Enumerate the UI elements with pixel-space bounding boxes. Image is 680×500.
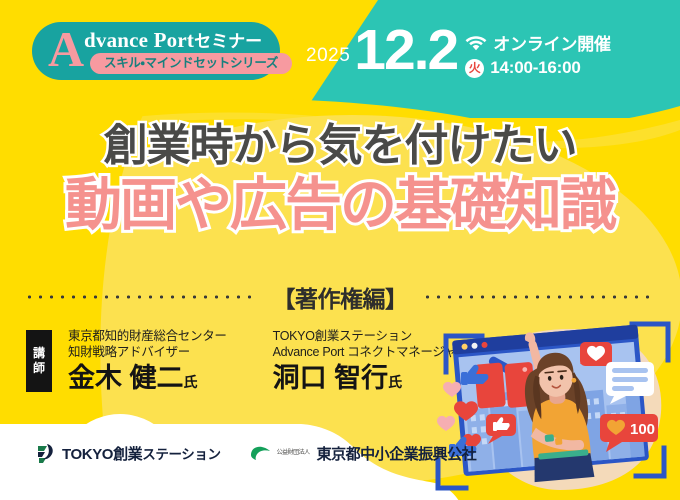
event-year: 2025 <box>306 46 350 81</box>
tokyo-smes-support-center-logo-text: 東京都中小企業振興公社 <box>317 443 477 464</box>
dotted-rule-right <box>422 295 657 299</box>
headline-line-1: 創業時から気を付けたい <box>0 118 680 174</box>
series-badge: A dvance Portセミナー スキル・マインドセットシリーズ <box>32 22 280 80</box>
weekday-badge: 火 <box>465 59 484 78</box>
speaker-org-line-2: 知財戦略アドバイザー <box>68 344 227 360</box>
footer-logos: TOKYO創業ステーション 公益財団法人 東京都中小企業振興公社 <box>34 442 476 464</box>
live-streaming-selfie-illustration: 100 <box>430 310 680 500</box>
speaker-entry: 東京都知的財産総合センター 知財戦略アドバイザー 金木 健二氏 <box>68 328 227 398</box>
tokyo-smes-support-center-logo-prefix: 公益財団法人 <box>277 450 311 457</box>
event-time: 14:00-16:00 <box>490 58 580 78</box>
tokyo-sogyo-station-logo-text: TOKYO創業ステーション <box>62 443 221 464</box>
series-badge-subtitle: スキル・マインドセットシリーズ <box>90 53 292 74</box>
speaker-label-char-2: 師 <box>33 361 45 376</box>
subtitle: 【著作権編】 <box>273 280 408 314</box>
wifi-icon <box>465 34 487 51</box>
event-format-label: オンライン開催 <box>493 30 611 55</box>
dotted-rule-left <box>24 295 259 299</box>
event-details: オンライン開催 火 14:00-16:00 <box>465 30 611 81</box>
speaker-name: 金木 健二氏 <box>68 362 227 398</box>
speaker-org-line-1: 東京都知的財産総合センター <box>68 328 227 344</box>
event-time-row: 火 14:00-16:00 <box>465 58 611 78</box>
event-format-row: オンライン開催 <box>465 30 611 55</box>
series-badge-title: dvance Portセミナー <box>84 27 262 53</box>
tokyo-smes-support-center-logo-icon <box>249 445 271 461</box>
tokyo-sogyo-station-logo: TOKYO創業ステーション <box>34 442 221 464</box>
speaker-label-char-1: 講 <box>33 346 45 361</box>
seminar-flyer: A dvance Portセミナー スキル・マインドセットシリーズ 2025 1… <box>0 0 680 500</box>
like-count-value: 100 <box>630 421 655 438</box>
headline-line-2: 動画や広告の基礎知識 <box>0 172 680 238</box>
event-datetime: 2025 12.2 オンライン開催 火 14:00-16:00 <box>306 22 611 81</box>
headline: 創業時から気を付けたい 動画や広告の基礎知識 <box>0 118 680 238</box>
event-date: 12.2 <box>354 22 457 81</box>
speakers-section: 講 師 東京都知的財産総合センター 知財戦略アドバイザー 金木 健二氏 TOKY… <box>26 328 468 398</box>
speaker-label-badge: 講 師 <box>26 330 52 392</box>
tokyo-sogyo-station-logo-icon <box>34 442 56 464</box>
heart-reaction-badge <box>580 342 612 366</box>
tokyo-smes-support-center-logo: 公益財団法人 東京都中小企業振興公社 <box>249 443 477 464</box>
series-badge-initial: A <box>48 23 84 75</box>
subtitle-row: 【著作権編】 <box>24 280 656 314</box>
